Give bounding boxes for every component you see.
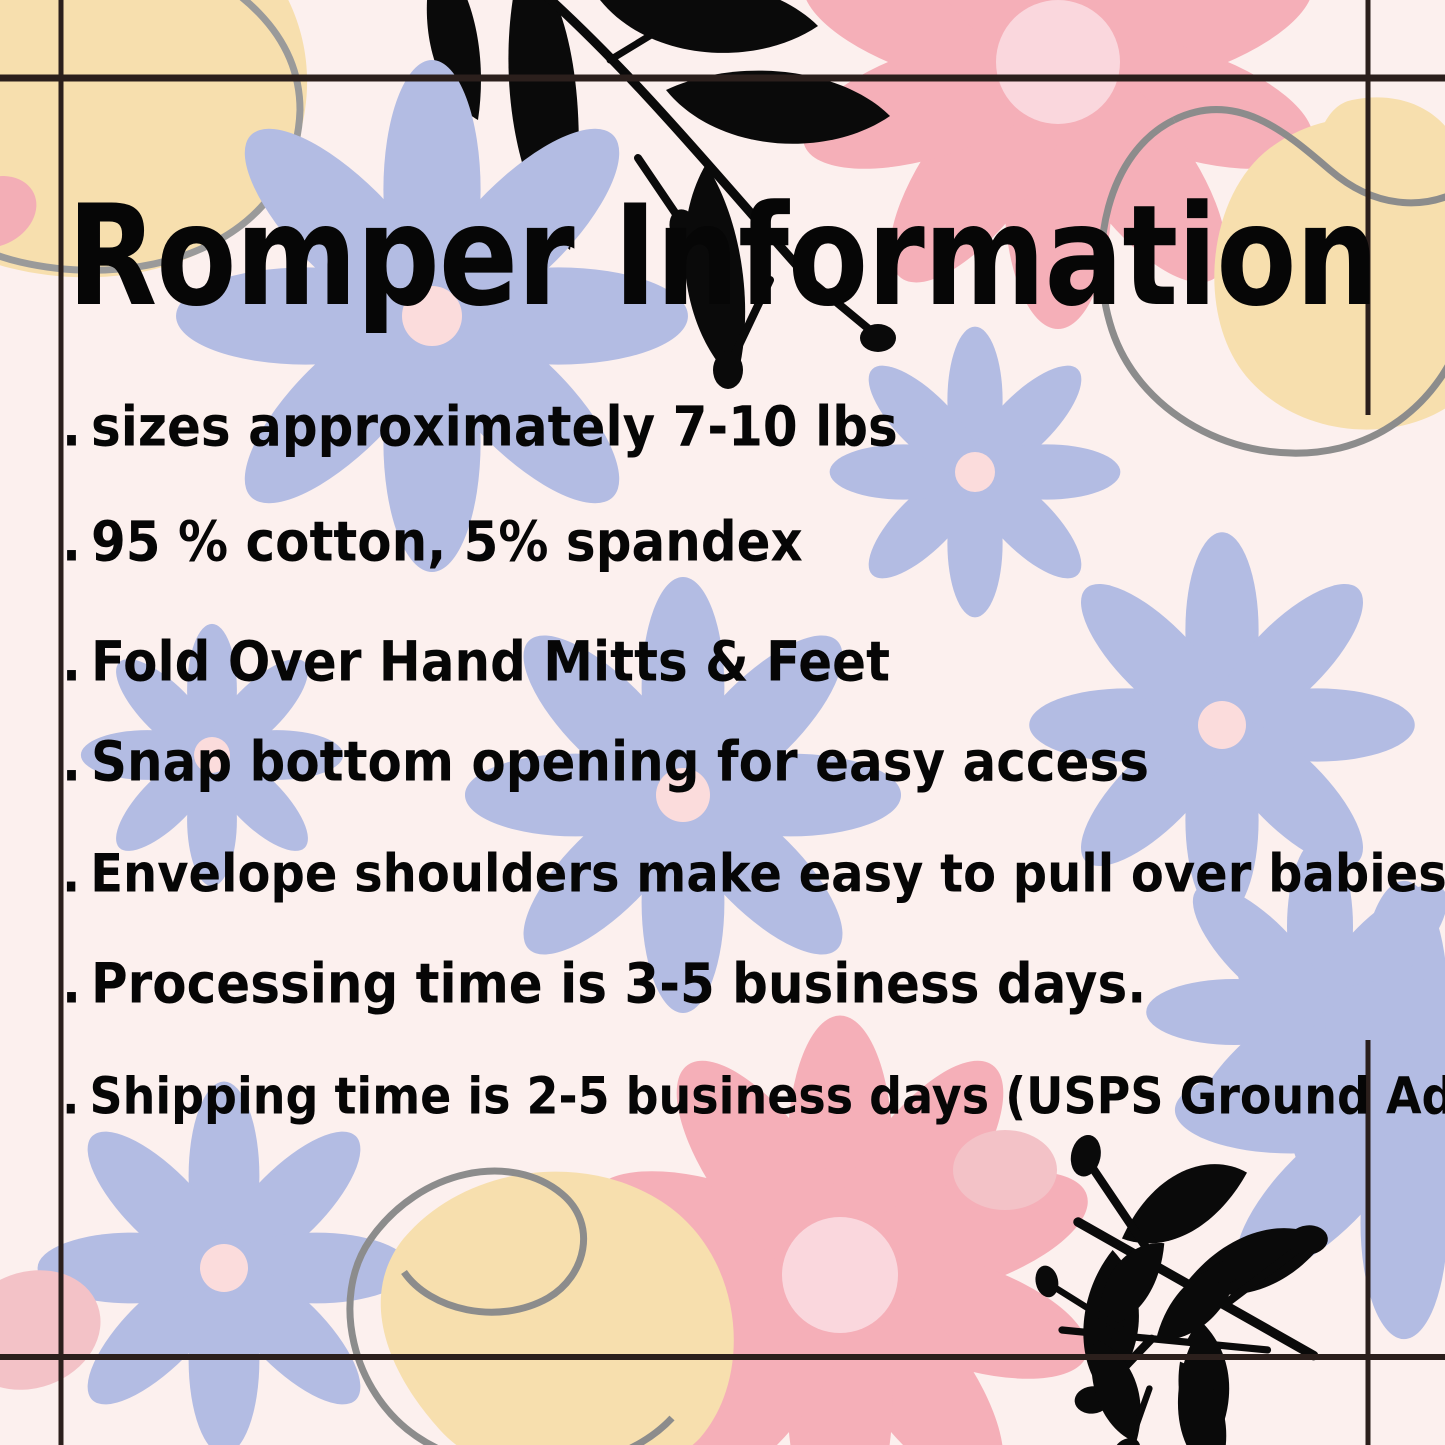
bullet-marker: .	[62, 952, 81, 1016]
list-item: . 95 % cotton, 5% spandex	[62, 510, 1407, 574]
bullet-list: . sizes approximately 7-10 lbs . 95 % co…	[62, 398, 1407, 1123]
page-title: Romper Information	[7, 186, 1438, 325]
list-item: . Fold Over Hand Mitts & Feet	[62, 630, 1407, 694]
list-item-label: sizes approximately 7-10 lbs	[91, 395, 898, 459]
poster-canvas: Romper Information . sizes approximately…	[0, 0, 1445, 1445]
bullet-marker: .	[62, 395, 81, 459]
poster-content: Romper Information . sizes approximately…	[0, 0, 1445, 1445]
list-item-label: Snap bottom opening for easy access	[91, 730, 1149, 794]
list-item: . Shipping time is 2-5 business days (US…	[62, 1066, 1407, 1125]
list-item-label: 95 % cotton, 5% spandex	[91, 510, 803, 574]
list-item: . Envelope shoulders make easy to pull o…	[62, 843, 1407, 905]
list-item: . Processing time is 3-5 business days.	[62, 952, 1407, 1016]
bullet-marker: .	[62, 630, 81, 694]
bullet-marker: .	[62, 510, 81, 574]
list-item-label: Processing time is 3-5 business days.	[91, 952, 1146, 1016]
bullet-marker: .	[62, 1066, 79, 1125]
bullet-marker: .	[62, 843, 80, 905]
list-item: . sizes approximately 7-10 lbs	[62, 395, 1407, 459]
bullet-marker: .	[62, 730, 81, 794]
list-item: . Snap bottom opening for easy access	[62, 730, 1407, 794]
list-item-label: Shipping time is 2-5 business days (USPS…	[89, 1066, 1445, 1125]
list-item-label: Fold Over Hand Mitts & Feet	[91, 630, 890, 694]
list-item-label: Envelope shoulders make easy to pull ove…	[90, 843, 1445, 905]
